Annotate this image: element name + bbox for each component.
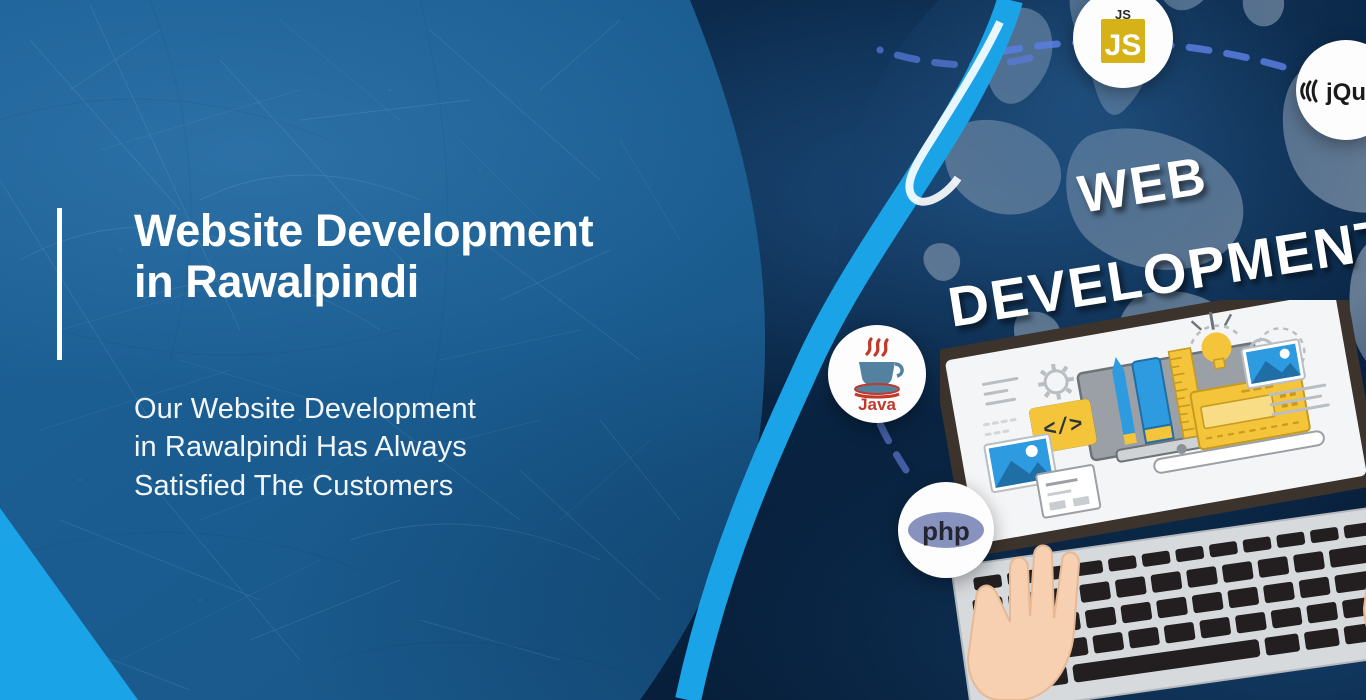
website-development-banner: if(err): else load_obj obj.load selected… [0,0,1366,700]
page-subtitle: Our Website Development in Rawalpindi Ha… [134,390,677,506]
accent-vertical-bar [57,208,62,360]
page-title: Website Development in Rawalpindi [134,206,677,308]
corner-accent-triangle [0,480,220,700]
text-content-block: Website Development in Rawalpindi Our We… [57,206,677,505]
